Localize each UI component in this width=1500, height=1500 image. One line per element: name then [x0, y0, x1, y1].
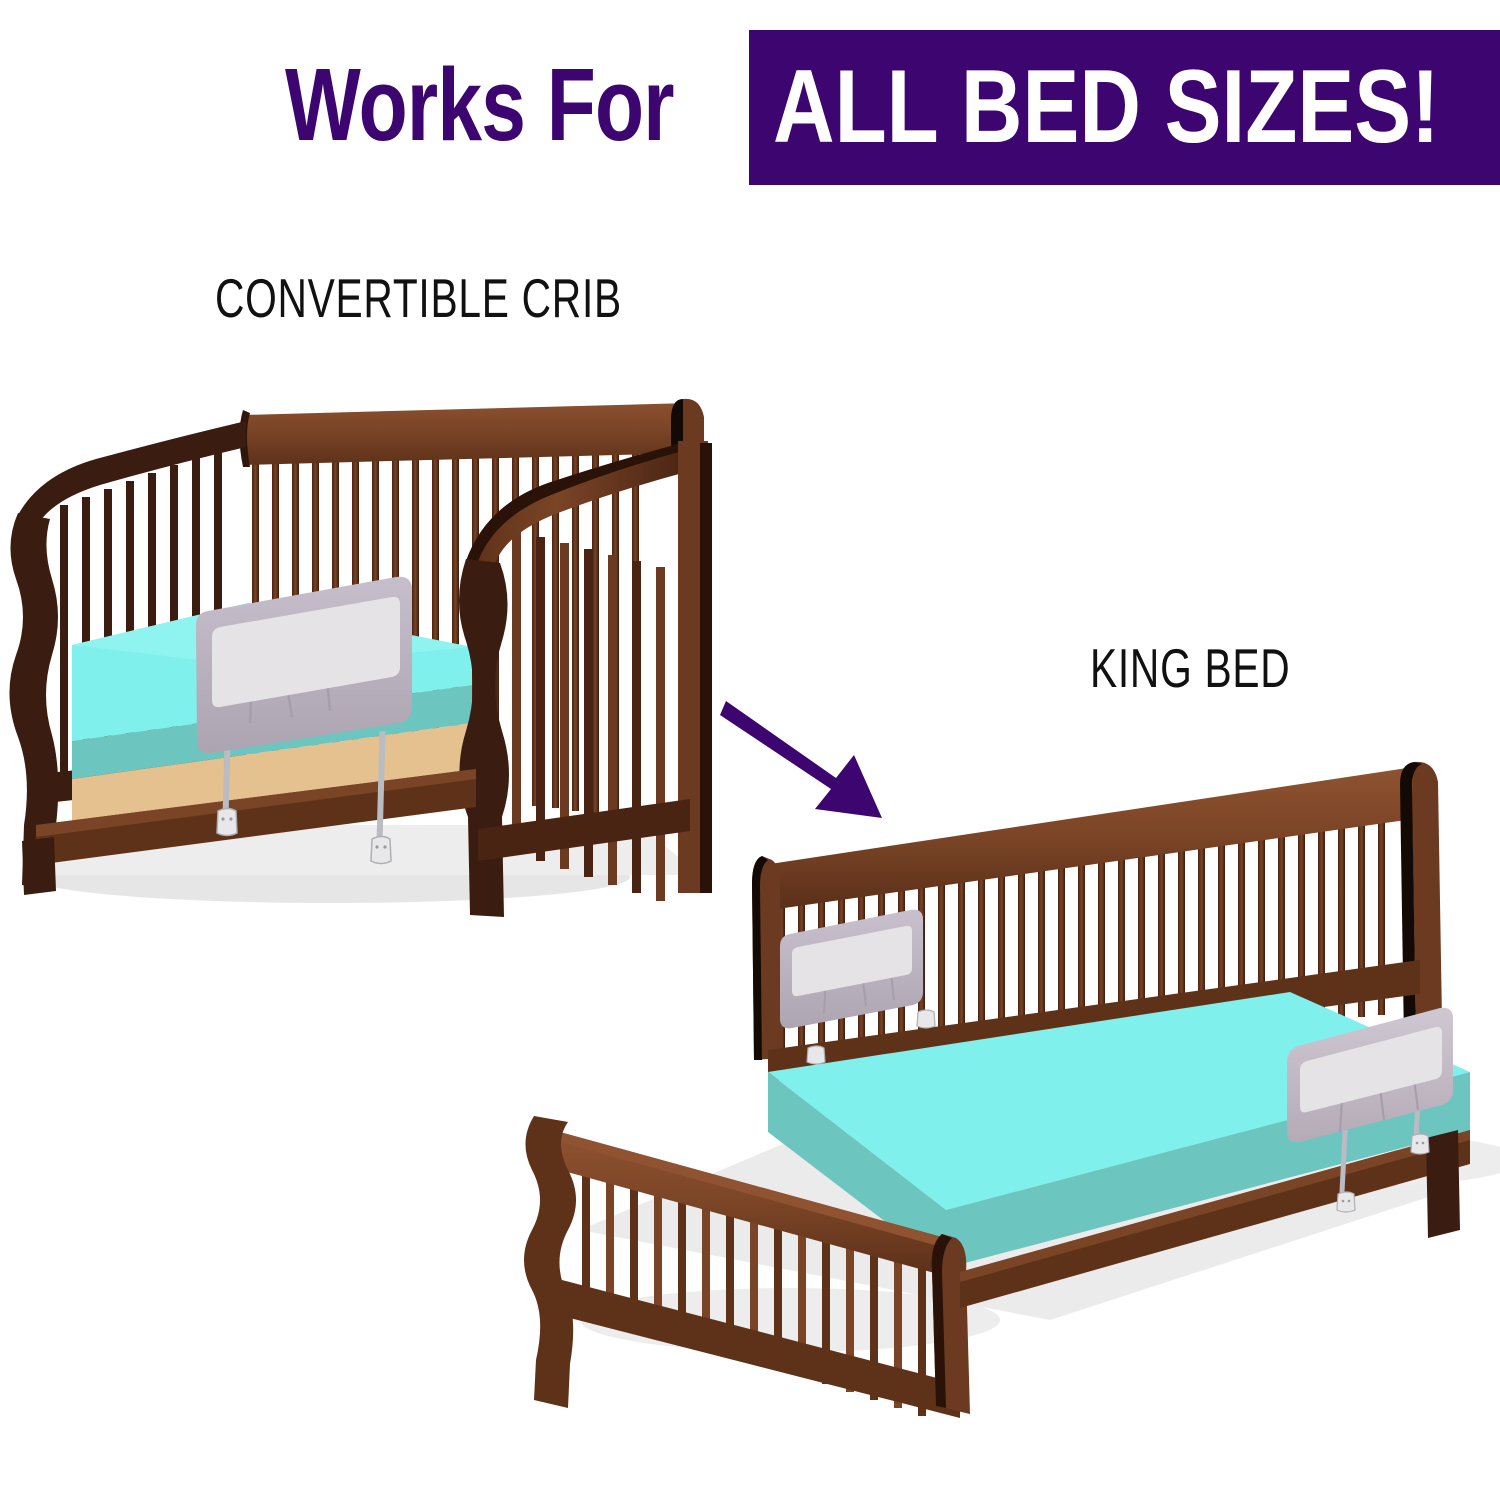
king-bed-illustration	[490, 760, 1500, 1420]
infographic-canvas: Works For ALL BED SIZES! CONVERTIBLE CRI…	[0, 0, 1500, 1500]
headline-emphasis: ALL BED SIZES!	[773, 32, 1440, 182]
detached-rail-foot-right	[917, 1010, 935, 1028]
headline-banner: ALL BED SIZES!	[749, 30, 1500, 185]
label-king-bed: KING BED	[1090, 638, 1290, 698]
detached-rail-foot-left	[807, 1046, 825, 1064]
headline-prefix: Works For	[285, 30, 674, 180]
header: Works For ALL BED SIZES!	[0, 0, 1500, 200]
label-convertible-crib: CONVERTIBLE CRIB	[215, 268, 622, 328]
